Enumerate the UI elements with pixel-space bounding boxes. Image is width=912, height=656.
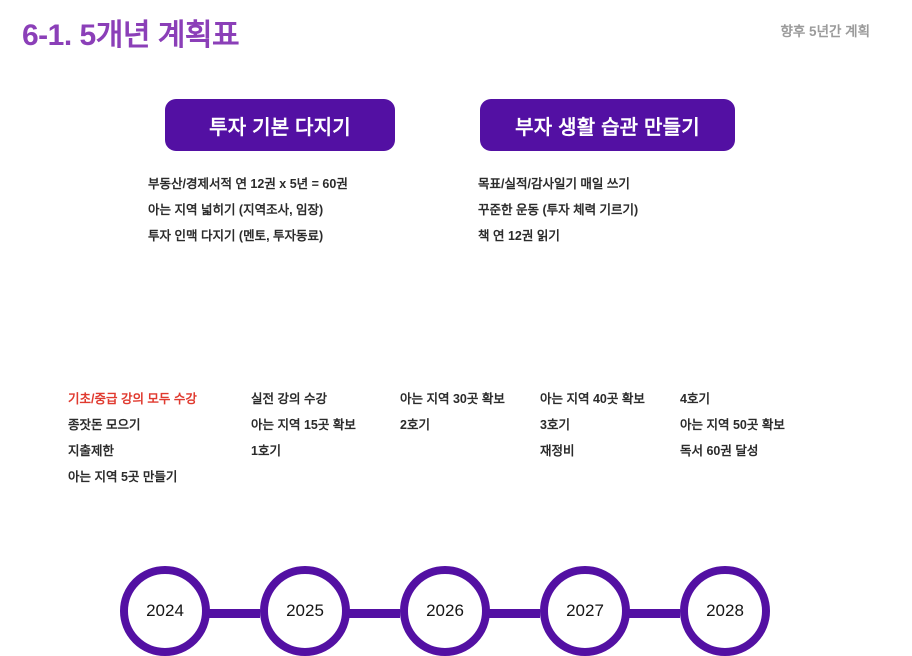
slide-canvas: 6-1. 5개년 계획표 향후 5년간 계획 투자 기본 다지기 부자 생활 습… [0,0,912,513]
task-item: 실전 강의 수강 [251,386,356,412]
goal-item: 목표/실적/감사일기 매일 쓰기 [478,171,638,197]
timeline-node-year: 2025 [285,600,325,622]
timeline-connector [625,609,680,618]
task-item: 아는 지역 30곳 확보 [400,386,505,412]
task-item: 2호기 [400,412,505,438]
task-item: 1호기 [251,438,356,464]
goal-item: 투자 인맥 다지기 (멘토, 투자동료) [148,223,348,249]
goal-list-investment: 부동산/경제서적 연 12권 x 5년 = 60권 아는 지역 넓히기 (지역조… [148,171,348,249]
goal-item: 아는 지역 넓히기 (지역조사, 임장) [148,197,348,223]
header-note: 향후 5년간 계획 [780,20,870,40]
timeline-connector [485,609,540,618]
timeline-tasks-2024: 기초/중급 강의 모두 수강 종잣돈 모으기 지출제한 아는 지역 5곳 만들기 [68,386,197,490]
task-item: 아는 지역 15곳 확보 [251,412,356,438]
timeline-node-2026[interactable]: 2026 [400,566,490,656]
goal-group-pill-habits[interactable]: 부자 생활 습관 만들기 [480,99,735,151]
timeline-node-2025[interactable]: 2025 [260,566,350,656]
goal-item: 책 연 12권 읽기 [478,223,638,249]
timeline: 2024 2025 2026 2027 2028 [0,283,912,377]
goal-group-pill-investment[interactable]: 투자 기본 다지기 [165,99,395,151]
goal-item: 부동산/경제서적 연 12권 x 5년 = 60권 [148,171,348,197]
goal-item: 꾸준한 운동 (투자 체력 기르기) [478,197,638,223]
timeline-tasks-2026: 아는 지역 30곳 확보 2호기 [400,386,505,438]
timeline-node-year: 2026 [425,600,465,622]
task-item: 3호기 [540,412,645,438]
timeline-node-2027[interactable]: 2027 [540,566,630,656]
timeline-node-year: 2028 [705,600,745,622]
pill-label: 부자 생활 습관 만들기 [515,111,700,140]
page-title: 6-1. 5개년 계획표 [22,10,239,54]
timeline-node-year: 2027 [565,600,605,622]
timeline-node-2028[interactable]: 2028 [680,566,770,656]
task-item: 아는 지역 5곳 만들기 [68,464,197,490]
timeline-tasks-2028: 4호기 아는 지역 50곳 확보 독서 60권 달성 [680,386,785,464]
pill-label: 투자 기본 다지기 [209,111,351,140]
task-item: 아는 지역 40곳 확보 [540,386,645,412]
task-item: 종잣돈 모으기 [68,412,197,438]
task-item: 지출제한 [68,438,197,464]
timeline-tasks-2025: 실전 강의 수강 아는 지역 15곳 확보 1호기 [251,386,356,464]
task-item: 재정비 [540,438,645,464]
task-item: 독서 60권 달성 [680,438,785,464]
task-item: 기초/중급 강의 모두 수강 [68,386,197,412]
timeline-node-year: 2024 [145,600,185,622]
timeline-node-2024[interactable]: 2024 [120,566,210,656]
timeline-tasks-2027: 아는 지역 40곳 확보 3호기 재정비 [540,386,645,464]
timeline-connector [345,609,400,618]
goal-list-habits: 목표/실적/감사일기 매일 쓰기 꾸준한 운동 (투자 체력 기르기) 책 연 … [478,171,638,249]
timeline-connector [205,609,260,618]
task-item: 아는 지역 50곳 확보 [680,412,785,438]
task-item: 4호기 [680,386,785,412]
